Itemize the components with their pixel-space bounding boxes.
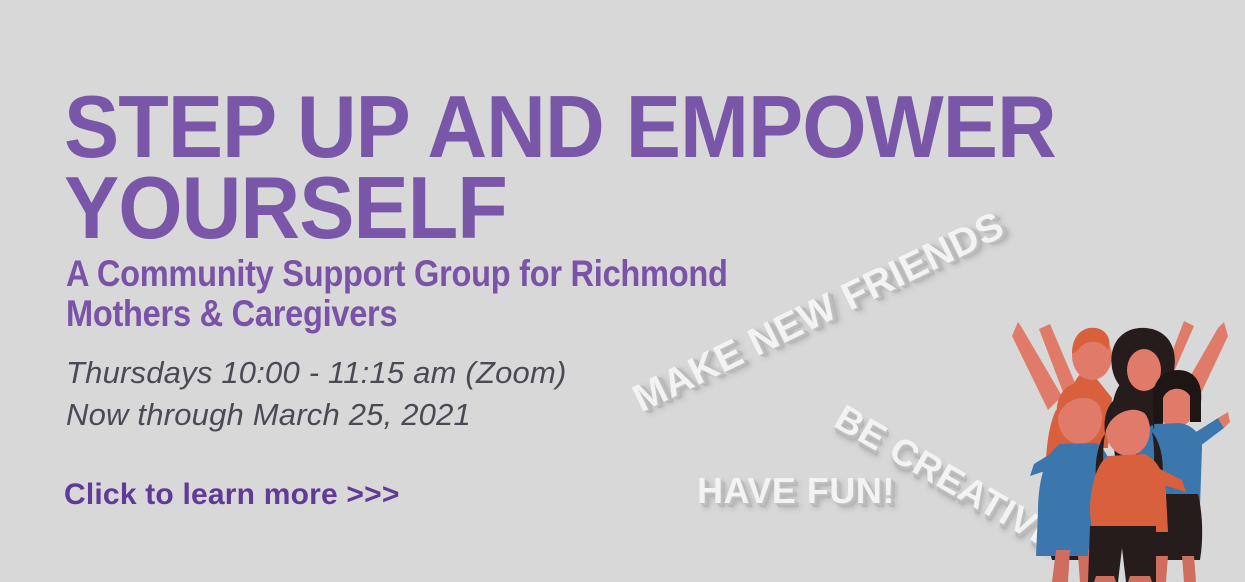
subtitle: A Community Support Group for Richmond M… — [66, 254, 858, 334]
schedule-line-time: Thursdays 10:00 - 11:15 am (Zoom) — [66, 352, 567, 394]
schedule-info: Thursdays 10:00 - 11:15 am (Zoom) Now th… — [66, 352, 567, 435]
group-of-women-icon — [1004, 298, 1236, 582]
promo-banner: STEP UP AND EMPOWER YOURSELF A Community… — [0, 0, 1245, 582]
wordart-have-fun: HAVE FUN! — [697, 470, 895, 512]
learn-more-link[interactable]: Click to learn more >>> — [64, 478, 400, 512]
group-of-women-illustration — [1004, 298, 1236, 582]
schedule-line-dates: Now through March 25, 2021 — [66, 394, 567, 436]
